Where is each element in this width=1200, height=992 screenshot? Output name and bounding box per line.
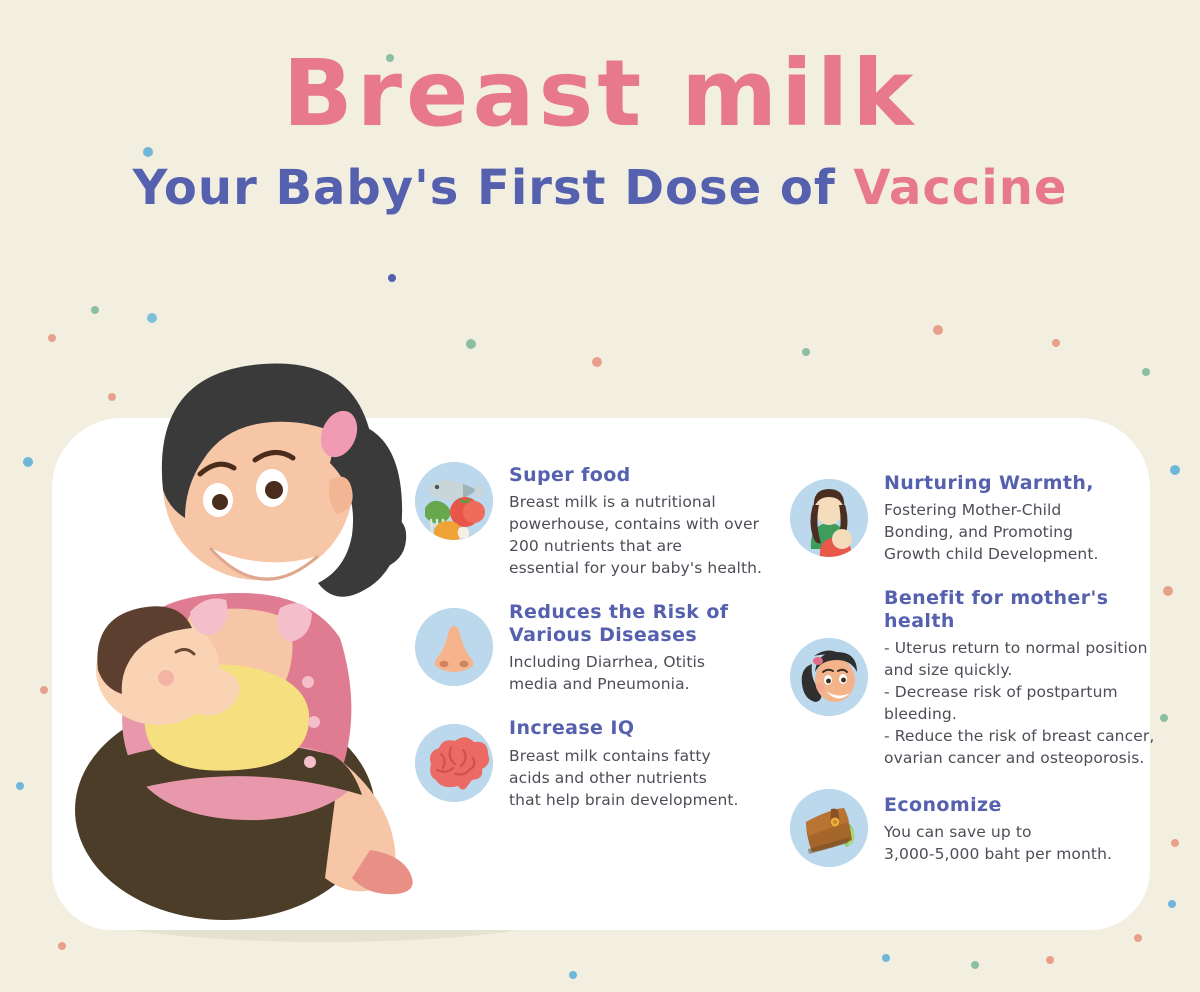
body-line: - Reduce the risk of breast cancer,	[884, 725, 1160, 747]
benefit-body: - Uterus return to normal position and s…	[884, 637, 1160, 769]
decorative-dot	[802, 348, 810, 356]
decorative-dot	[1163, 586, 1173, 596]
body-line: Breast milk contains fatty	[509, 745, 739, 767]
benefit-item-reduces-risk[interactable]: Reduces the Risk of Various Diseases Inc…	[415, 599, 795, 695]
benefit-text: Economize You can save up to 3,000-5,000…	[884, 792, 1112, 865]
subtitle-main: Your Baby's First Dose of	[133, 160, 854, 216]
decorative-dot	[58, 942, 66, 950]
decorative-dot	[466, 339, 476, 349]
body-line: Bonding, and Promoting	[884, 521, 1099, 543]
decorative-dot	[1142, 368, 1150, 376]
title-line: Reduces the Risk of	[509, 601, 728, 623]
decorative-dot	[569, 971, 577, 979]
benefit-item-super-food[interactable]: Super food Breast milk is a nutritional …	[415, 462, 795, 579]
benefit-title: Super food	[509, 464, 762, 486]
decorative-dot	[882, 954, 890, 962]
decorative-dot	[147, 313, 157, 323]
body-line: acids and other nutrients	[509, 767, 739, 789]
title-line: Benefit for mother's	[884, 587, 1108, 609]
decorative-dot	[16, 782, 24, 790]
body-line: media and Pneumonia.	[509, 673, 795, 695]
left-benefits-column: Super food Breast milk is a nutritional …	[415, 462, 795, 811]
benefit-body: You can save up to 3,000-5,000 baht per …	[884, 821, 1112, 865]
decorative-dot	[933, 325, 943, 335]
page-subtitle: Your Baby's First Dose of Vaccine	[0, 162, 1200, 215]
benefit-title: Reduces the Risk of Various Diseases	[509, 601, 795, 646]
decorative-dot	[971, 961, 979, 969]
nose-icon	[415, 608, 493, 686]
benefit-title: Nurturing Warmth,	[884, 472, 1099, 494]
page-title: Breast milk	[0, 48, 1200, 140]
right-benefits-column: Nurturing Warmth, Fostering Mother-Child…	[790, 470, 1160, 867]
body-line: that help brain development.	[509, 789, 739, 811]
body-line: and size quickly.	[884, 659, 1160, 681]
header: Breast milk Your Baby's First Dose of Va…	[0, 0, 1200, 215]
body-line: - Uterus return to normal position	[884, 637, 1160, 659]
benefit-text: Nurturing Warmth, Fostering Mother-Child…	[884, 470, 1099, 565]
body-line: essential for your baby's health.	[509, 557, 762, 579]
benefit-body: Breast milk contains fatty acids and oth…	[509, 745, 739, 811]
decorative-dot	[388, 274, 396, 282]
benefit-text: Benefit for mother's health - Uterus ret…	[884, 585, 1160, 769]
brain-icon	[415, 724, 493, 802]
benefit-body: Breast milk is a nutritional powerhouse,…	[509, 491, 762, 579]
decorative-dot	[23, 457, 33, 467]
benefit-title: Increase IQ	[509, 717, 739, 739]
decorative-dot	[1134, 934, 1142, 942]
body-line: Fostering Mother-Child	[884, 499, 1099, 521]
mother-breastfeeding-baby-illustration	[40, 330, 440, 930]
body-line: ovarian cancer and osteoporosis.	[884, 747, 1160, 769]
benefit-item-increase-iq[interactable]: Increase IQ Breast milk contains fatty a…	[415, 715, 795, 810]
wallet-icon	[790, 789, 868, 867]
decorative-dot	[1160, 714, 1168, 722]
mother-holding-baby-icon	[790, 479, 868, 557]
benefit-text: Increase IQ Breast milk contains fatty a…	[509, 715, 739, 810]
title-line: Various Diseases	[509, 624, 697, 646]
decorative-dot	[91, 306, 99, 314]
body-line: 3,000-5,000 baht per month.	[884, 843, 1112, 865]
benefit-body: Including Diarrhea, Otitis media and Pne…	[509, 651, 795, 695]
body-line: bleeding.	[884, 703, 1160, 725]
decorative-dot	[1170, 465, 1180, 475]
decorative-dot	[1052, 339, 1060, 347]
decorative-dot	[1168, 900, 1176, 908]
benefit-item-mothers-health[interactable]: Benefit for mother's health - Uterus ret…	[790, 585, 1160, 769]
decorative-dot	[592, 357, 602, 367]
benefit-title: Benefit for mother's health	[884, 587, 1160, 632]
decorative-dot	[1046, 956, 1054, 964]
subtitle-accent: Vaccine	[853, 160, 1067, 216]
benefit-item-economize[interactable]: Economize You can save up to 3,000-5,000…	[790, 789, 1160, 867]
benefit-item-nurturing-warmth[interactable]: Nurturing Warmth, Fostering Mother-Child…	[790, 470, 1160, 565]
body-line: Including Diarrhea, Otitis	[509, 651, 795, 673]
woman-face-icon	[790, 638, 868, 716]
body-line: You can save up to	[884, 821, 1112, 843]
body-line: 200 nutrients that are	[509, 535, 762, 557]
decorative-dot	[1171, 839, 1179, 847]
body-line: Breast milk is a nutritional	[509, 491, 762, 513]
title-line: health	[884, 610, 955, 632]
body-line: powerhouse, contains with over	[509, 513, 762, 535]
benefit-text: Super food Breast milk is a nutritional …	[509, 462, 762, 579]
healthy-food-icon	[415, 462, 493, 540]
benefit-text: Reduces the Risk of Various Diseases Inc…	[509, 599, 795, 695]
benefit-body: Fostering Mother-Child Bonding, and Prom…	[884, 499, 1099, 565]
body-line: Growth child Development.	[884, 543, 1099, 565]
benefit-title: Economize	[884, 794, 1112, 816]
infographic-page: Breast milk Your Baby's First Dose of Va…	[0, 0, 1200, 992]
body-line: - Decrease risk of postpartum	[884, 681, 1160, 703]
